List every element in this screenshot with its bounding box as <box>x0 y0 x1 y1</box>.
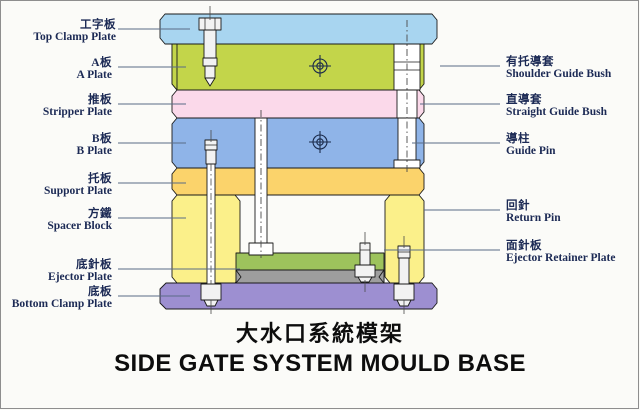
label-top-clamp-plate: 工字板 Top Clamp Plate <box>33 20 116 43</box>
label-ejector-retainer-plate-en: Ejector Retainer Plate <box>506 253 615 265</box>
label-ejector-retainer-plate-cn: 面針板 <box>506 241 615 253</box>
label-spacer-block-en: Spacer Block <box>47 221 112 233</box>
label-b-plate-en: B Plate <box>77 146 112 158</box>
label-guide-pin: 導柱 Guide Pin <box>506 134 556 157</box>
label-guide-pin-cn: 導柱 <box>506 134 556 146</box>
label-shoulder-guide-bush-en: Shoulder Guide Bush <box>506 69 611 81</box>
mould-base-diagram: 工字板 Top Clamp Plate A板 A Plate 推板 Stripp… <box>0 0 640 410</box>
label-stripper-plate-en: Stripper Plate <box>43 107 112 119</box>
label-straight-guide-bush: 直導套 Straight Guide Bush <box>506 95 607 118</box>
label-return-pin: 回針 Return Pin <box>506 201 561 224</box>
label-support-plate: 托板 Support Plate <box>44 174 112 197</box>
label-top-clamp-plate-en: Top Clamp Plate <box>33 32 116 44</box>
label-ejector-retainer-plate: 面針板 Ejector Retainer Plate <box>506 241 615 264</box>
title-chinese: 大水口系統模架 <box>0 316 640 348</box>
label-ejector-plate-cn: 底針板 <box>48 260 112 272</box>
label-top-clamp-plate-cn: 工字板 <box>33 20 116 32</box>
label-return-pin-en: Return Pin <box>506 213 561 225</box>
label-support-plate-cn: 托板 <box>44 174 112 186</box>
label-bottom-clamp-plate-cn: 底板 <box>12 287 112 299</box>
diagram-title: 大水口系統模架 SIDE GATE SYSTEM MOULD BASE <box>0 316 640 378</box>
label-guide-pin-en: Guide Pin <box>506 146 556 158</box>
label-bottom-clamp-plate: 底板 Bottom Clamp Plate <box>12 287 112 310</box>
label-straight-guide-bush-en: Straight Guide Bush <box>506 107 607 119</box>
label-shoulder-guide-bush-cn: 有托導套 <box>506 57 611 69</box>
plate-stripper-plate <box>172 90 424 118</box>
label-return-pin-cn: 回針 <box>506 201 561 213</box>
label-b-plate-cn: B板 <box>77 134 112 146</box>
label-a-plate-cn: A板 <box>77 58 112 70</box>
label-stripper-plate-cn: 推板 <box>43 95 112 107</box>
label-support-plate-en: Support Plate <box>44 186 112 198</box>
label-spacer-block: 方鐵 Spacer Block <box>47 209 112 232</box>
label-a-plate-en: A Plate <box>77 70 112 82</box>
label-shoulder-guide-bush: 有托導套 Shoulder Guide Bush <box>506 57 611 80</box>
label-a-plate: A板 A Plate <box>77 58 112 81</box>
plate-spacer-block-left <box>172 195 240 283</box>
label-spacer-block-cn: 方鐵 <box>47 209 112 221</box>
label-ejector-plate: 底針板 Ejector Plate <box>48 260 112 283</box>
label-stripper-plate: 推板 Stripper Plate <box>43 95 112 118</box>
label-ejector-plate-en: Ejector Plate <box>48 272 112 284</box>
label-straight-guide-bush-cn: 直導套 <box>506 95 607 107</box>
title-english: SIDE GATE SYSTEM MOULD BASE <box>0 350 640 378</box>
label-b-plate: B板 B Plate <box>77 134 112 157</box>
label-bottom-clamp-plate-en: Bottom Clamp Plate <box>12 299 112 311</box>
